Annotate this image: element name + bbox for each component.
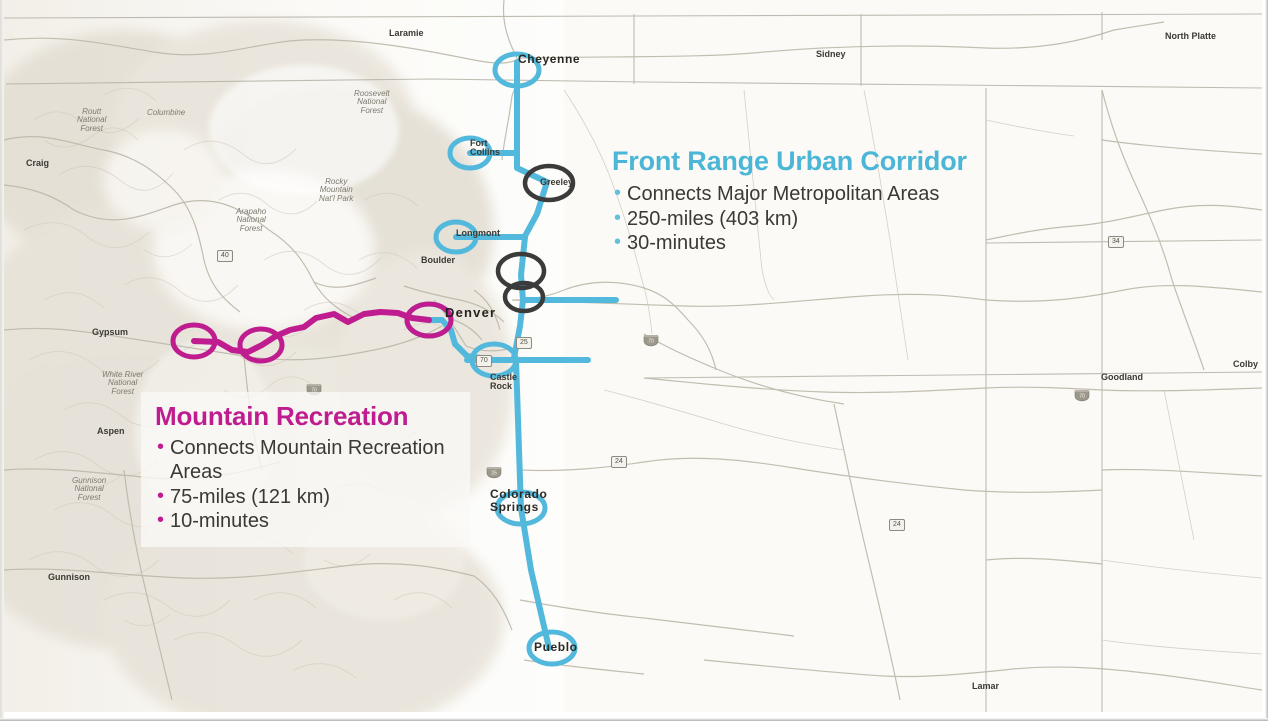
callout-mountain-recreation: Mountain Recreation Connects Mountain Re… [141, 392, 470, 547]
mountain-bullet-2: 75-miles (121 km) [155, 485, 458, 509]
front-range-bullet-3: 30-minutes [612, 231, 1058, 256]
map-canvas[interactable]: LaramieCheyenneSidneyNorth PlatteCraigFo… [4, 0, 1262, 712]
front-range-bullet-list: Connects Major Metropolitan Areas 250-mi… [612, 182, 1058, 256]
screenshot-frame: LaramieCheyenneSidneyNorth PlatteCraigFo… [0, 0, 1268, 721]
mountain-bullet-3: 10-minutes [155, 509, 458, 533]
frame-edge-left [0, 0, 4, 721]
callout-front-range-urban-corridor: Front Range Urban Corridor Connects Majo… [612, 146, 1058, 256]
front-range-title: Front Range Urban Corridor [612, 146, 1058, 177]
mountain-recreation-bullet-list: Connects Mountain Recreation Areas 75-mi… [155, 436, 458, 534]
front-range-bullet-2: 250-miles (403 km) [612, 207, 1058, 232]
front-range-bullet-1: Connects Major Metropolitan Areas [612, 182, 1058, 207]
map-base-svg [4, 0, 1262, 712]
mountain-recreation-title: Mountain Recreation [155, 402, 458, 432]
mountain-bullet-1: Connects Mountain Recreation Areas [155, 436, 458, 485]
